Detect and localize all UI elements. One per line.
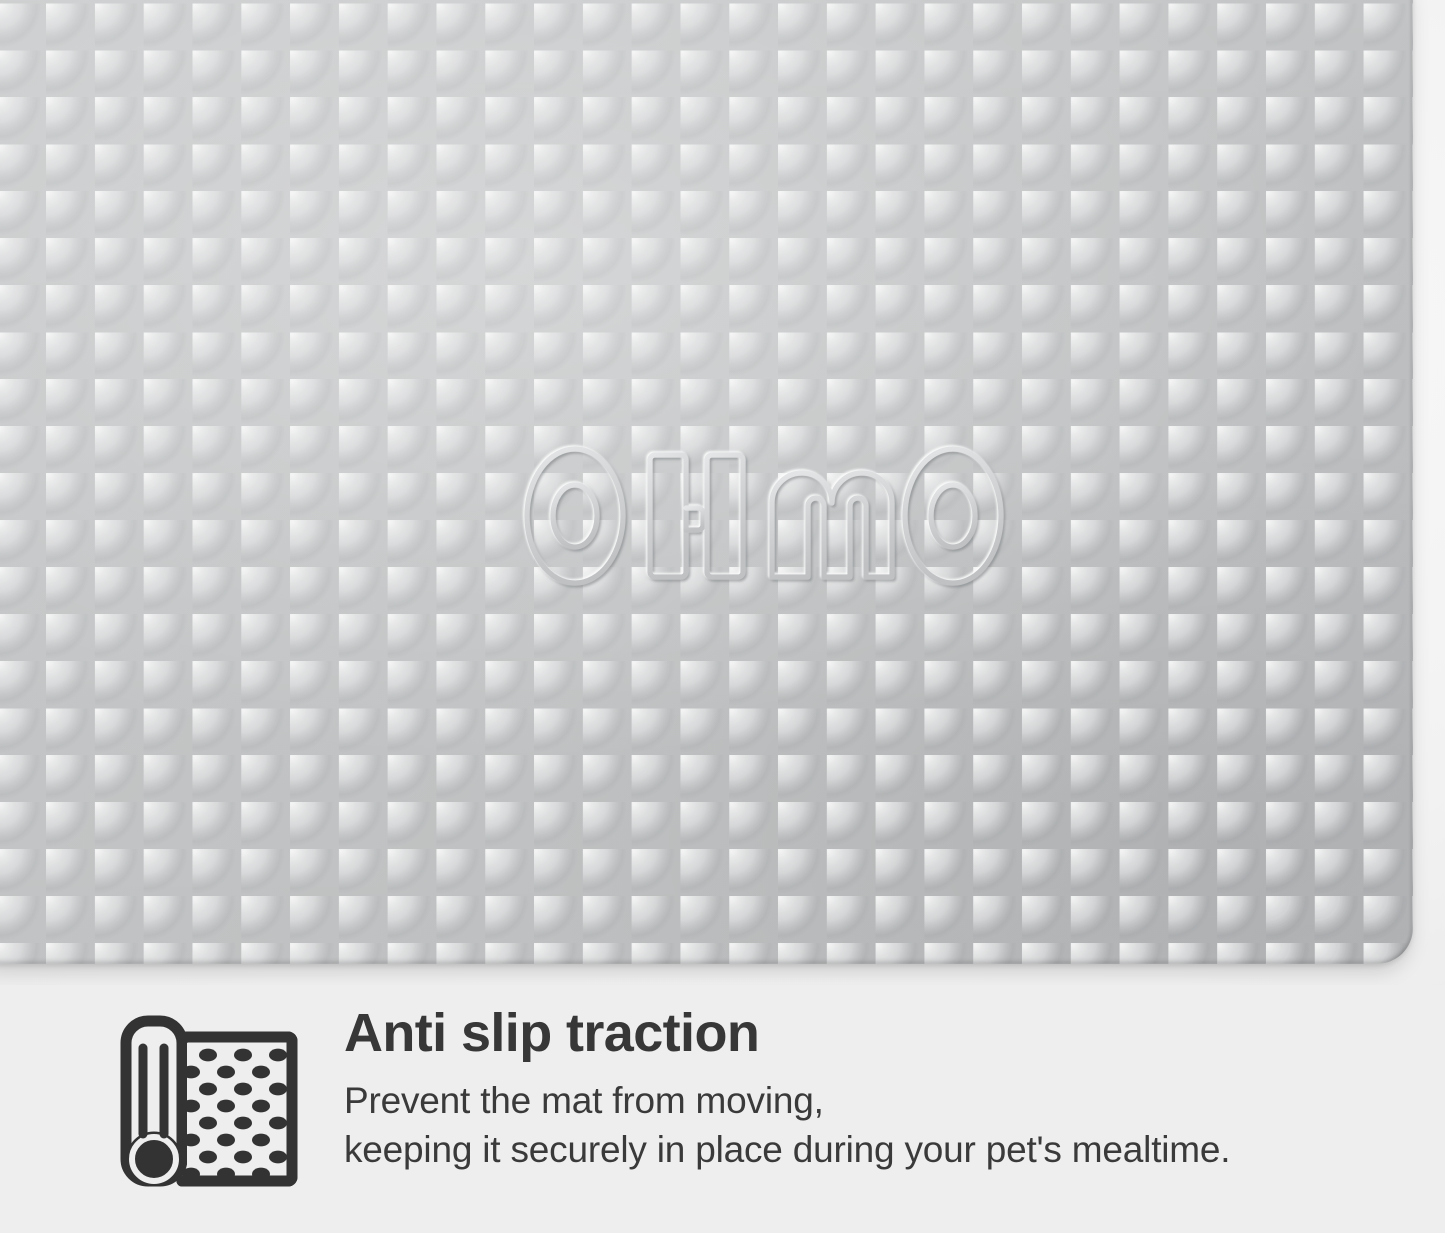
feature-caption-panel: Anti slip traction Prevent the mat from …: [0, 985, 1445, 1233]
feature-description-line-1: Prevent the mat from moving,: [344, 1077, 1419, 1126]
feature-description: Prevent the mat from moving, keeping it …: [344, 1077, 1419, 1175]
mat-dot-texture: [0, 0, 1413, 964]
mat-edge-bevel: [0, 0, 1413, 964]
silicone-pet-mat: [0, 0, 1413, 964]
product-feature-screenshot: Anti slip traction Prevent the mat from …: [0, 0, 1445, 1233]
product-photo: [0, 0, 1445, 985]
mat-lighting-overlay: [0, 0, 1413, 964]
feature-description-line-2: keeping it securely in place during your…: [344, 1126, 1419, 1175]
feature-text-block: Anti slip traction Prevent the mat from …: [302, 997, 1419, 1175]
feature-title: Anti slip traction: [344, 1005, 1419, 1061]
anti-slip-mat-roll-icon: [112, 1008, 302, 1194]
